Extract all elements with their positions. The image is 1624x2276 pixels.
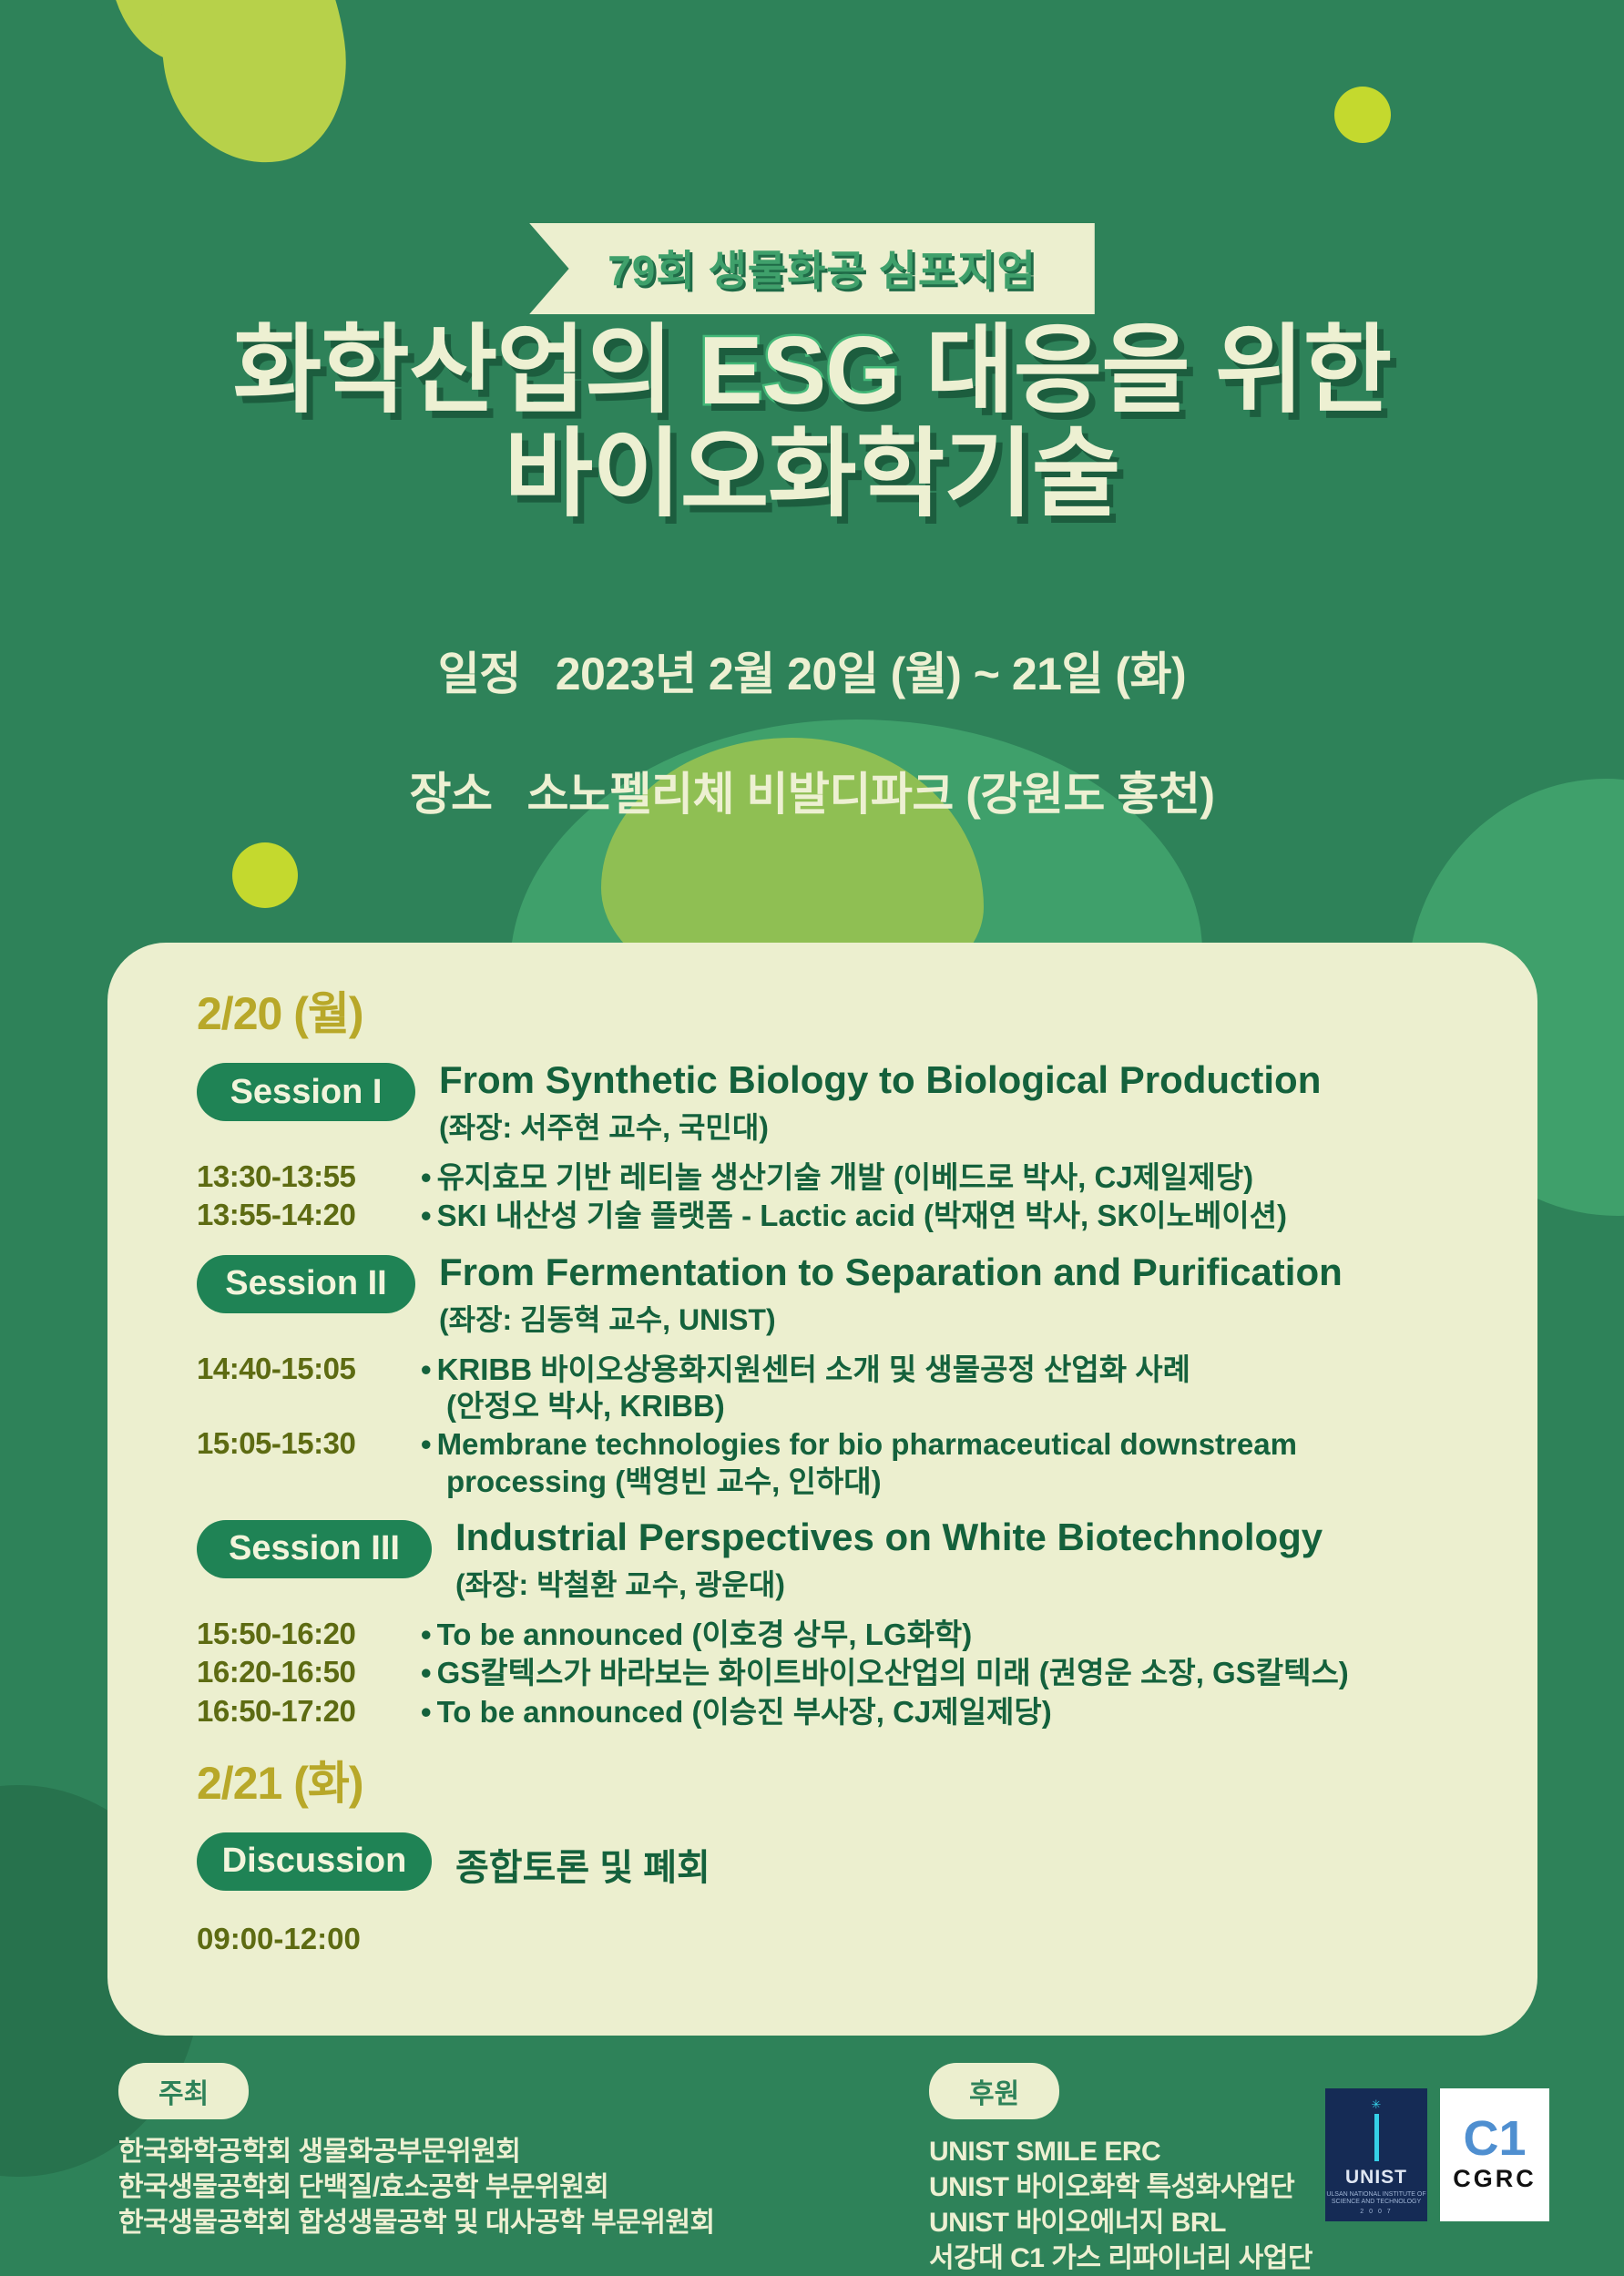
session-3-talk-3: •To be announced (이승진 부사장, CJ제일제당) bbox=[421, 1694, 1052, 1730]
bullet-icon: • bbox=[421, 1618, 432, 1651]
session-3-talk-3-text: To be announced (이승진 부사장, CJ제일제당) bbox=[437, 1695, 1052, 1729]
schedule-row: 15:05-15:30 •Membrane technologies for b… bbox=[149, 1426, 1496, 1500]
sponsor-line-1: UNIST SMILE ERC bbox=[929, 2134, 1312, 2169]
ribbon-banner: 79회 생물화공 심포지엄 bbox=[0, 223, 1624, 314]
session-3-talk-1: •To be announced (이호경 상무, LG화학) bbox=[421, 1617, 972, 1653]
title-line-1-part-a: 화학산업의 bbox=[233, 317, 699, 424]
title-line-2: 바이오화학기술 bbox=[0, 423, 1624, 526]
discussion-block: Discussion 종합토론 및 폐회 09:00-12:00 bbox=[149, 1829, 1496, 1956]
schedule-row: 16:20-16:50 •GS칼텍스가 바라보는 화이트바이오산업의 미래 (권… bbox=[149, 1655, 1496, 1691]
c1-cgrc-logo: C1 CGRC bbox=[1440, 2088, 1549, 2221]
session-3-talk-2-text: GS칼텍스가 바라보는 화이트바이오산업의 미래 (권영운 소장, GS칼텍스) bbox=[437, 1656, 1349, 1689]
discussion-header: Discussion 종합토론 및 폐회 bbox=[149, 1829, 1496, 1891]
day1-heading: 2/20 (월) bbox=[197, 977, 1496, 1043]
session-1-rows: 13:30-13:55 •유지효모 기반 레티놀 생산기술 개발 (이베드로 박… bbox=[149, 1159, 1496, 1235]
session-2-talk-1-cont: (안정오 박사, KRIBB) bbox=[446, 1388, 1190, 1424]
session-1-talk-2-text: SKI 내산성 기술 플랫폼 - Lactic acid (박재연 박사, SK… bbox=[437, 1199, 1287, 1232]
bullet-icon: • bbox=[421, 1656, 432, 1689]
session-3-header: Session III Industrial Perspectives on W… bbox=[149, 1516, 1496, 1604]
background-dot-right bbox=[1334, 87, 1391, 143]
session-2-talk-2: •Membrane technologies for bio pharmaceu… bbox=[421, 1426, 1297, 1500]
session-2-talk-2-cont: processing (백영빈 교수, 인하대) bbox=[446, 1464, 1297, 1500]
sponsor-column: 후원 UNIST SMILE ERC UNIST 바이오화학 특성화사업단 UN… bbox=[929, 2063, 1312, 2276]
session-3-time-2: 16:20-16:50 bbox=[197, 1655, 421, 1689]
session-3-pill: Session III bbox=[197, 1520, 432, 1578]
discussion-pill: Discussion bbox=[197, 1832, 432, 1891]
session-2-talk-1-text: KRIBB 바이오상용화지원센터 소개 및 생물공정 산업화 사례 bbox=[437, 1352, 1190, 1386]
event-date-row: 일정2023년 2월 20일 (월) ~ 21일 (화) bbox=[0, 638, 1624, 703]
session-2-chair: (좌장: 김동혁 교수, UNIST) bbox=[439, 1297, 1343, 1339]
event-meta: 일정2023년 2월 20일 (월) ~ 21일 (화) 장소소노펠리체 비발디… bbox=[0, 638, 1624, 878]
schedule-row: 14:40-15:05 •KRIBB 바이오상용화지원센터 소개 및 생물공정 … bbox=[149, 1352, 1496, 1425]
session-1-pill: Session I bbox=[197, 1063, 415, 1121]
session-2-talk-2-text: Membrane technologies for bio pharmaceut… bbox=[437, 1427, 1297, 1461]
session-2-time-1: 14:40-15:05 bbox=[197, 1352, 421, 1386]
day2-heading: 2/21 (화) bbox=[197, 1747, 1496, 1812]
ribbon-text: 79회 생물화공 심포지엄 bbox=[529, 223, 1095, 314]
schedule-row: 16:50-17:20 •To be announced (이승진 부사장, C… bbox=[149, 1694, 1496, 1730]
session-1-time-1: 13:30-13:55 bbox=[197, 1159, 421, 1194]
discussion-text: 종합토론 및 폐회 bbox=[455, 1838, 710, 1891]
unist-logo-name: UNIST bbox=[1345, 2167, 1407, 2189]
schedule-row: 13:30-13:55 •유지효모 기반 레티놀 생산기술 개발 (이베드로 박… bbox=[149, 1159, 1496, 1196]
session-1-talk-1: •유지효모 기반 레티놀 생산기술 개발 (이베드로 박사, CJ제일제당) bbox=[421, 1159, 1253, 1196]
session-1-time-2: 13:55-14:20 bbox=[197, 1198, 421, 1232]
session-3-talk-2: •GS칼텍스가 바라보는 화이트바이오산업의 미래 (권영운 소장, GS칼텍스… bbox=[421, 1655, 1349, 1691]
schedule-row: 13:55-14:20 •SKI 내산성 기술 플랫폼 - Lactic aci… bbox=[149, 1198, 1496, 1234]
event-date-value: 2023년 2월 20일 (월) ~ 21일 (화) bbox=[556, 648, 1186, 699]
title-line-1-part-b: 대응을 위한 bbox=[900, 317, 1392, 424]
session-3-talk-1-text: To be announced (이호경 상무, LG화학) bbox=[437, 1618, 973, 1651]
title-line-1: 화학산업의 ESG 대응을 위한 bbox=[0, 319, 1624, 423]
bullet-icon: • bbox=[421, 1352, 432, 1386]
c1-logo-bottom: CGRC bbox=[1453, 2165, 1537, 2193]
session-1-header: Session I From Synthetic Biology to Biol… bbox=[149, 1059, 1496, 1147]
discussion-time: 09:00-12:00 bbox=[197, 1922, 1496, 1956]
session-2-talk-1: •KRIBB 바이오상용화지원센터 소개 및 생물공정 산업화 사례(안정오 박… bbox=[421, 1352, 1190, 1425]
session-1-title: From Synthetic Biology to Biological Pro… bbox=[439, 1059, 1321, 1101]
session-3-time-3: 16:50-17:20 bbox=[197, 1694, 421, 1729]
background-blob-top-left bbox=[141, 0, 360, 175]
session-2-header: Session II From Fermentation to Separati… bbox=[149, 1251, 1496, 1339]
session-1-talk-2: •SKI 내산성 기술 플랫폼 - Lactic acid (박재연 박사, S… bbox=[421, 1198, 1287, 1234]
organizer-line-3: 한국생물공학회 합성생물공학 및 대사공학 부문위원회 bbox=[118, 2205, 715, 2240]
session-block-2: Session II From Fermentation to Separati… bbox=[149, 1251, 1496, 1500]
unist-bar-icon bbox=[1374, 2114, 1379, 2161]
session-3-title: Industrial Perspectives on White Biotech… bbox=[455, 1516, 1323, 1558]
session-2-rows: 14:40-15:05 •KRIBB 바이오상용화지원센터 소개 및 생물공정 … bbox=[149, 1352, 1496, 1500]
organizer-column: 주최 한국화학공학회 생물화공부문위원회 한국생물공학회 단백질/효소공학 부문… bbox=[118, 2063, 715, 2240]
organizer-line-1: 한국화학공학회 생물화공부문위원회 bbox=[118, 2134, 715, 2169]
session-2-time-2: 15:05-15:30 bbox=[197, 1426, 421, 1461]
session-1-chair: (좌장: 서주현 교수, 국민대) bbox=[439, 1105, 1321, 1147]
bullet-icon: • bbox=[421, 1160, 432, 1194]
schedule-row: 15:50-16:20 •To be announced (이호경 상무, LG… bbox=[149, 1617, 1496, 1653]
session-block-3: Session III Industrial Perspectives on W… bbox=[149, 1516, 1496, 1730]
sponsor-line-4: 서강대 C1 가스 리파이너리 사업단 bbox=[929, 2240, 1312, 2276]
session-block-1: Session I From Synthetic Biology to Biol… bbox=[149, 1059, 1496, 1235]
poster-footer: 주최 한국화학공학회 생물화공부문위원회 한국생물공학회 단백질/효소공학 부문… bbox=[0, 2063, 1624, 2259]
unist-logo: ✳ UNIST ULSAN NATIONAL INSTITUTE OF SCIE… bbox=[1325, 2088, 1427, 2221]
sponsor-line-2: UNIST 바이오화학 특성화사업단 bbox=[929, 2169, 1312, 2205]
background-blob-top-left-b bbox=[109, 0, 273, 64]
event-date-label: 일정 bbox=[438, 648, 521, 699]
session-3-chair: (좌장: 박철환 교수, 광운대) bbox=[455, 1562, 1323, 1604]
session-3-time-1: 15:50-16:20 bbox=[197, 1617, 421, 1651]
logo-row: ✳ UNIST ULSAN NATIONAL INSTITUTE OF SCIE… bbox=[1325, 2088, 1549, 2221]
unist-spark-icon: ✳ bbox=[1372, 2097, 1382, 2112]
c1-logo-top: C1 bbox=[1463, 2117, 1526, 2161]
organizer-tag: 주최 bbox=[118, 2063, 249, 2119]
session-3-rows: 15:50-16:20 •To be announced (이호경 상무, LG… bbox=[149, 1617, 1496, 1730]
bullet-icon: • bbox=[421, 1427, 432, 1461]
event-venue-label: 장소 bbox=[410, 769, 493, 820]
title-esg-highlight: ESG bbox=[699, 317, 900, 424]
poster-title: 화학산업의 ESG 대응을 위한 바이오화학기술 bbox=[0, 319, 1624, 527]
event-venue-row: 장소소노펠리체 비발디파크 (강원도 홍천) bbox=[0, 758, 1624, 823]
schedule-card: 2/20 (월) Session I From Synthetic Biolog… bbox=[107, 943, 1537, 2036]
bullet-icon: • bbox=[421, 1199, 432, 1232]
session-2-title: From Fermentation to Separation and Puri… bbox=[439, 1251, 1343, 1293]
event-venue-value: 소노펠리체 비발디파크 (강원도 홍천) bbox=[527, 769, 1215, 820]
organizer-line-2: 한국생물공학회 단백질/효소공학 부문위원회 bbox=[118, 2169, 715, 2205]
sponsor-tag: 후원 bbox=[929, 2063, 1059, 2119]
sponsor-line-3: UNIST 바이오에너지 BRL bbox=[929, 2205, 1312, 2240]
unist-logo-subtitle: ULSAN NATIONAL INSTITUTE OF SCIENCE AND … bbox=[1325, 2191, 1427, 2208]
bullet-icon: • bbox=[421, 1695, 432, 1729]
session-1-talk-1-text: 유지효모 기반 레티놀 생산기술 개발 (이베드로 박사, CJ제일제당) bbox=[437, 1160, 1254, 1194]
session-2-pill: Session II bbox=[197, 1255, 415, 1313]
unist-logo-year: 2 0 0 7 bbox=[1360, 2209, 1392, 2215]
